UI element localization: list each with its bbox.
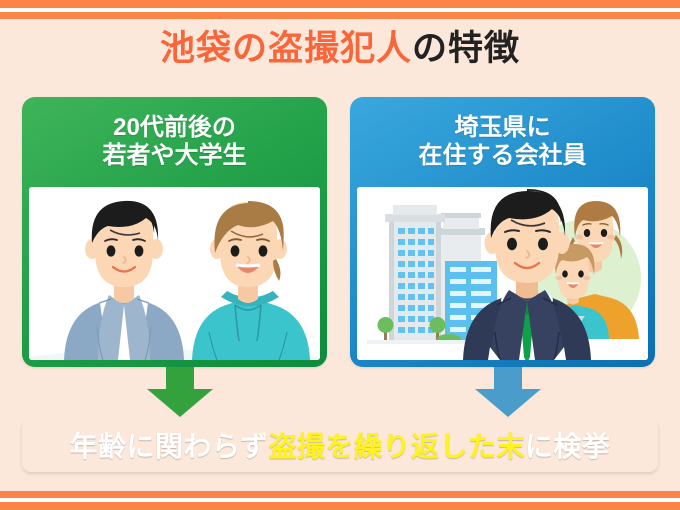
bottom-rule-outer	[0, 502, 680, 510]
card-young-people-heading: 20代前後の 若者や大学生	[22, 97, 327, 187]
bottom-rule-inner	[0, 491, 680, 498]
page-title: 池袋の盗撮犯人の特徴	[0, 31, 680, 66]
card-saitama-employee-heading-line2: 在住する会社員	[419, 142, 587, 170]
page-title-highlight: 池袋の盗撮犯人	[160, 29, 412, 68]
green-down-arrow	[132, 367, 228, 417]
businessman-buildings-family-illustration	[357, 187, 648, 360]
top-rule-outer	[0, 0, 680, 8]
card-young-people-illustration	[29, 187, 320, 360]
page-title-rest: の特徴	[412, 29, 520, 68]
conclusion-banner-text: 年齢に関わらず盗撮を繰り返した末に検挙	[70, 425, 611, 465]
two-young-people-illustration	[29, 187, 320, 360]
top-rule-inner	[0, 12, 680, 19]
card-saitama-employee-heading-line1: 埼玉県に	[455, 114, 551, 142]
slide-stage: 池袋の盗撮犯人の特徴 20代前後の 若者や大学生	[0, 19, 680, 491]
card-saitama-employee-illustration	[357, 187, 648, 360]
conclusion-banner: 年齢に関わらず盗撮を繰り返した末に検挙	[22, 418, 658, 472]
card-young-people-heading-line2: 若者や大学生	[103, 142, 247, 170]
blue-down-arrow	[460, 367, 556, 417]
card-saitama-employee-heading: 埼玉県に 在住する会社員	[350, 97, 655, 187]
conclusion-segment-highlight: 盗撮を繰り返した末	[268, 431, 525, 462]
card-saitama-employee[interactable]: 埼玉県に 在住する会社員	[350, 97, 655, 367]
card-young-people[interactable]: 20代前後の 若者や大学生	[22, 97, 327, 367]
conclusion-segment-3: に検挙	[525, 431, 611, 462]
conclusion-segment-1: 年齢に関わらず	[70, 431, 269, 462]
card-young-people-heading-line1: 20代前後の	[113, 114, 236, 142]
